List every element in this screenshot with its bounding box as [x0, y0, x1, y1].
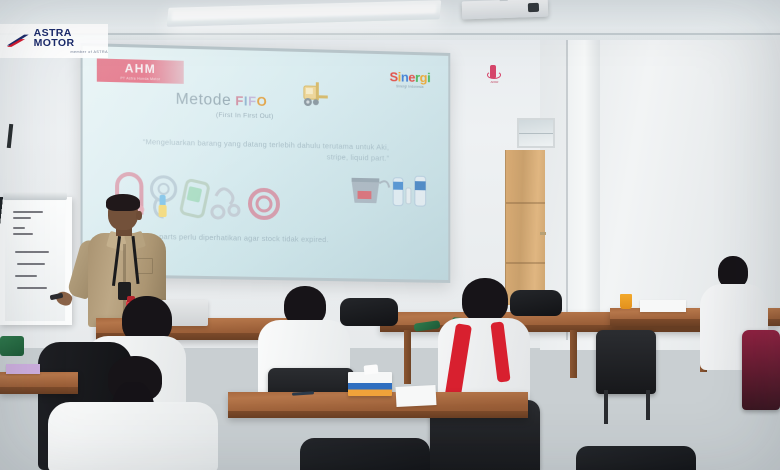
tissue-sheet: [364, 364, 379, 374]
door-transom-window: [517, 118, 555, 148]
sinergi-logo-text: Sinergi: [389, 70, 430, 84]
slide-title-accent: FIFO: [235, 93, 267, 109]
desk-leg: [404, 330, 411, 384]
desk-edge: [228, 411, 528, 418]
student-torso: [48, 402, 218, 470]
flipchart-whiteboard: [0, 197, 72, 325]
forklift-icon: [302, 80, 336, 109]
goods-illustration: [350, 169, 433, 212]
door-handle[interactable]: [540, 232, 546, 235]
ahm-logo-subtext: PT Astra Honda Motor: [120, 76, 160, 81]
notebook[interactable]: [6, 364, 40, 374]
desk-leg: [570, 330, 577, 378]
paper-sheet[interactable]: [640, 300, 686, 312]
astra-motor-logo-icon: [6, 33, 30, 49]
student-head: [462, 278, 508, 322]
slide-quote: “Mengeluarkan barang yang datang terlebi…: [139, 136, 389, 165]
ahm-logo: AHM PT Astra Honda Motor: [97, 58, 184, 83]
watermark-brand: ASTRA MOTOR: [34, 28, 108, 49]
projector-mount: [500, 0, 508, 1]
chair-far-right[interactable]: [742, 330, 780, 410]
presenter-ear: [136, 211, 142, 220]
wall-pillar: [566, 8, 600, 326]
fire-sign-label: APAR: [486, 80, 503, 84]
hose-icon: [487, 71, 501, 79]
chair-center-right[interactable]: [596, 330, 656, 394]
chair-leg: [604, 390, 608, 424]
green-object: [0, 336, 24, 356]
projector-lens: [528, 3, 539, 12]
flipchart-paper: [5, 201, 65, 321]
cup[interactable]: [620, 294, 632, 309]
sinergi-logo-subtext: Sinergi Indonesia: [389, 85, 430, 89]
flipchart-clamp: [3, 192, 67, 200]
ceiling-wall-joint: [0, 33, 780, 35]
paper-sheet[interactable]: [396, 385, 437, 407]
tissue-box[interactable]: [348, 372, 392, 396]
slide-title-main: Metode: [176, 91, 232, 109]
left-front-desk: [0, 372, 78, 394]
astra-motor-watermark: ASTRA MOTOR member of ASTRA: [0, 24, 108, 58]
ceiling-projector: [462, 0, 549, 19]
desk-edge: [0, 387, 78, 394]
wall-corner-edge: [566, 0, 568, 340]
slide-title: MetodeFIFO: [176, 91, 376, 114]
slide-subtitle: (First In First Out): [216, 112, 366, 123]
chair-leg: [646, 390, 650, 420]
backpack-front[interactable]: [300, 438, 430, 470]
ahm-logo-text: AHM: [125, 62, 156, 75]
backpack-front[interactable]: [576, 446, 696, 470]
classroom-photo-scene: APAR AHM PT Astra Honda Motor Sinergi Si…: [0, 0, 780, 470]
presenter-hair: [106, 194, 140, 211]
sinergi-logo: Sinergi Sinergi Indonesia: [389, 70, 430, 89]
fire-extinguisher-sign: APAR: [486, 62, 503, 88]
watermark-tagline: member of ASTRA: [34, 51, 108, 55]
